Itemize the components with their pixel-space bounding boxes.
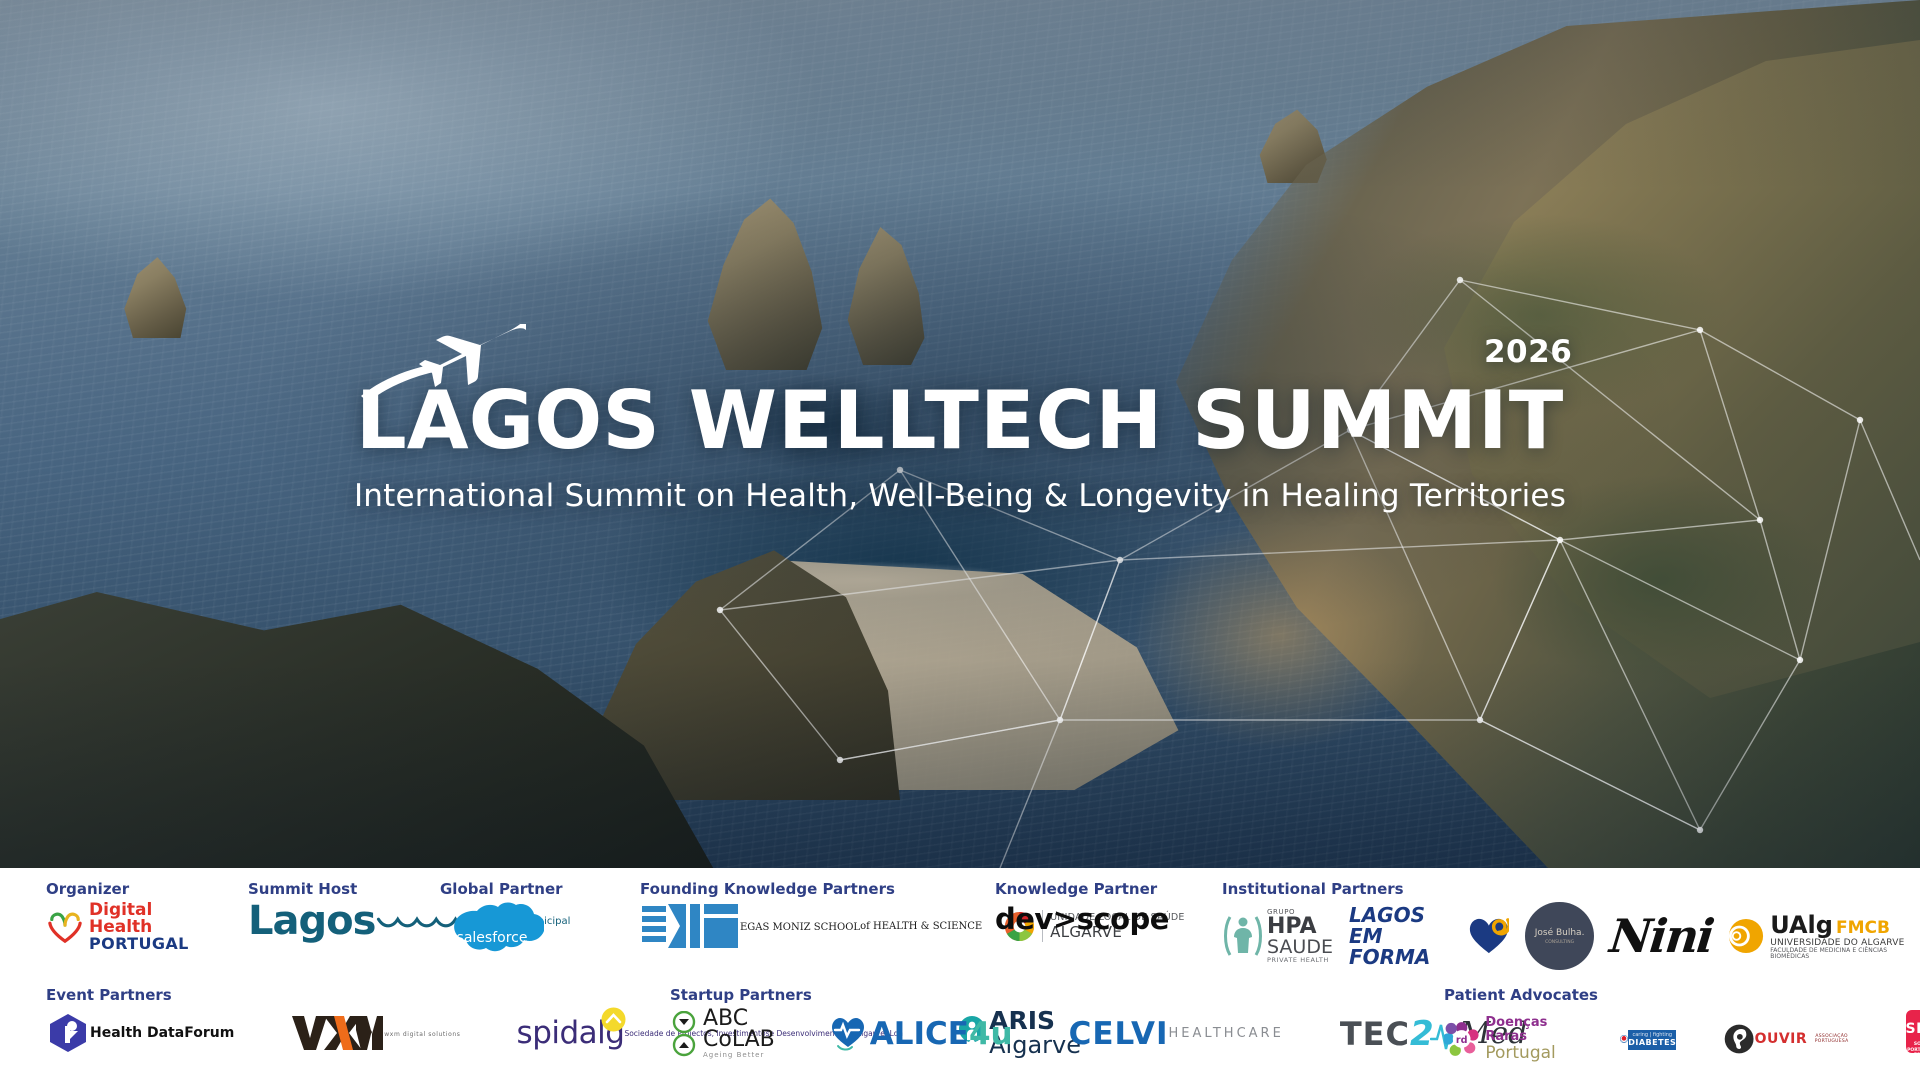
logo-line-fmcb: FMCB <box>1836 920 1890 937</box>
logo-line-portugal: Portugal <box>1485 1044 1572 1062</box>
hpa-figure-icon <box>1222 911 1262 961</box>
summit-logo-text: LAGOS WELLTECH SUMMIT <box>356 378 1565 464</box>
summit-logo: LAGOS WELLTECH SUMMIT 2026 <box>356 378 1565 464</box>
apdp-emblem-icon <box>1620 1015 1628 1063</box>
logo-line-hpa: HPA <box>1267 916 1333 937</box>
doencas-raras-portugal-logo[interactable]: rd Doenças Raras Portugal <box>1444 1016 1572 1062</box>
partner-group-label: Institutional Partners <box>1222 880 1920 898</box>
partner-group-label: Knowledge Partner <box>995 880 1169 898</box>
partner-group-label: Organizer <box>46 880 189 898</box>
logo-line-ouvir: OUVIR <box>1755 1031 1808 1047</box>
wxm-digital-solutions-logo[interactable]: wxm digital solutions <box>290 1012 460 1054</box>
grupo-hpa-saude-logo[interactable]: GRUPO HPA SAUDE PRIVATE HEALTH <box>1222 909 1333 964</box>
partner-group-global: Global Partner salesforce <box>440 880 563 970</box>
abc-colab-logo[interactable]: ABC CoLAB Ageing Better <box>670 1008 775 1059</box>
salesforce-logo[interactable]: salesforce <box>440 902 544 970</box>
logo-line-ageing-better: Ageing Better <box>703 1051 775 1059</box>
jose-bulha-logo[interactable]: José Bulha. CONSULTING <box>1525 902 1593 970</box>
logo-line-lagos: LAGOS <box>1349 905 1465 926</box>
logo-word-lagos: LAGOS <box>356 374 660 467</box>
partner-group-knowledge: Knowledge Partner dev>scope <box>995 880 1169 936</box>
spem-logo[interactable]: SPEM SOCIEDADE PORTUGUESA DE ESCLEROSE M… <box>1904 1008 1920 1070</box>
partner-group-organizer: Organizer Digital Health PORTUGAL <box>46 880 189 952</box>
egas-moniz-school-logo[interactable]: EGAS MONIZ SCHOOL of HEALTH & SCIENCE <box>640 902 982 950</box>
logo-line-alice: ALICE <box>870 1016 969 1052</box>
devscope-logo[interactable]: dev>scope <box>995 902 1169 936</box>
lagos-em-forma-logo[interactable]: LAGOS EM FORMA <box>1349 905 1509 968</box>
logo-line-em-forma: EM FORMA <box>1349 926 1465 968</box>
logo-line-portugal: PORTUGAL <box>89 936 189 952</box>
hero-subtitle: International Summit on Health, Well-Bei… <box>0 478 1920 514</box>
year-badge: 2026 <box>1484 334 1572 370</box>
logo-line-tec: TEC <box>1340 1015 1410 1053</box>
logo-line-abc: ABC <box>703 1008 775 1029</box>
apdp-diabetes-logo[interactable]: caring | fighting DIABETES <box>1620 1015 1676 1063</box>
partner-group-institutional: Institutional Partners GRUPO HPA SAUDE P… <box>1222 880 1920 970</box>
wxm-mark-icon <box>290 1012 384 1054</box>
partner-row-2: Event Partners Health Data Forum <box>0 976 1920 1080</box>
egas-moniz-mark-icon <box>640 902 740 950</box>
logo-line-doencas-raras: Doenças Raras <box>1485 1016 1572 1044</box>
logo-line-forum: Forum <box>184 1026 234 1041</box>
rd-circle-icon: rd <box>1444 1017 1479 1061</box>
logo-line-tagline: CONSULTING <box>1545 940 1574 945</box>
ualg-emblem-icon <box>1728 917 1764 955</box>
partner-group-label: Startup Partners <box>670 986 1527 1004</box>
logo-line-spem: SPEM <box>1904 1021 1920 1037</box>
nini-logo[interactable]: Nini <box>1607 909 1715 963</box>
logo-line-saude: SAUDE <box>1267 937 1333 957</box>
logo-line-sociedade: SOCIEDADE PORTUGUESA DE ESCLEROSE MÚLTIP… <box>1904 1042 1920 1064</box>
hero-banner: LAGOS WELLTECH SUMMIT 2026 International… <box>0 0 1920 868</box>
partner-group-patient-advocates: Patient Advocates rd Doenças Raras <box>1444 986 1920 1070</box>
heart-pulse-icon <box>831 1017 865 1051</box>
logo-word-summit: SUMMIT <box>1192 374 1564 467</box>
partner-row-1: Organizer Digital Health PORTUGAL <box>0 868 1920 976</box>
celvi-healthcare-logo[interactable]: CELVI HEALTHCARE <box>1069 1018 1284 1050</box>
logo-line-health-data: Health Data <box>90 1026 184 1041</box>
chevron-badge-icon <box>601 1007 626 1032</box>
digital-health-portugal-logo[interactable]: Digital Health PORTUGAL <box>46 902 189 952</box>
logo-word-welltech: WELLTECH <box>689 374 1163 467</box>
logo-line-ualg: UAlg <box>1770 913 1833 937</box>
ear-circle-icon <box>1724 1018 1754 1060</box>
ouvir-logo[interactable]: OUVIR ASSOCIAÇÃO PORTUGUESA <box>1724 1018 1856 1060</box>
svg-text:rd: rd <box>1456 1035 1468 1046</box>
logo-line-4u: 4u <box>969 1016 1013 1052</box>
logo-line-lagos: Lagos <box>248 902 375 940</box>
logo-line-associacao: ASSOCIAÇÃO PORTUGUESA <box>1807 1034 1856 1044</box>
data-pin-icon <box>46 1012 90 1054</box>
health-data-forum-logo[interactable]: Health Data Forum <box>46 1012 234 1054</box>
logo-line-celvi: CELVI <box>1069 1018 1169 1050</box>
logo-line-private-health: PRIVATE HEALTH <box>1267 957 1333 964</box>
heart-icon <box>46 910 84 944</box>
logo-line-diabetes: DIABETES <box>1628 1038 1676 1047</box>
partner-bar: Organizer Digital Health PORTUGAL <box>0 868 1920 1080</box>
logo-line-healthcare: HEALTHCARE <box>1169 1026 1284 1041</box>
partner-group-label: Global Partner <box>440 880 563 898</box>
logo-line-tagline: wxm digital solutions <box>384 1031 460 1038</box>
ualg-fmcb-logo[interactable]: UAlg FMCB UNIVERSIDADE DO ALGARVE FACULD… <box>1728 913 1920 960</box>
partner-group-label: Patient Advocates <box>1444 986 1920 1004</box>
logo-line-faculdade: FACULDADE DE MEDICINA E CIÊNCIAS BIOMÉDI… <box>1770 948 1920 960</box>
heart-spiral-icon <box>1468 916 1510 956</box>
partner-group-startup: Startup Partners ABC CoLAB Ageing Better <box>670 986 1527 1059</box>
dna-hourglass-icon <box>670 1011 698 1057</box>
alice4u-logo[interactable]: ALICE 4u <box>831 1016 1013 1052</box>
logo-line-name: José Bulha. <box>1535 928 1585 938</box>
logo-line-egas-2: of HEALTH & SCIENCE <box>860 921 982 932</box>
logo-line-colab: CoLAB <box>703 1029 775 1051</box>
logo-line-salesforce: salesforce <box>440 930 544 946</box>
logo-line-egas-1: EGAS MONIZ SCHOOL <box>740 922 860 933</box>
hero-title-block: LAGOS WELLTECH SUMMIT 2026 International… <box>0 378 1920 514</box>
